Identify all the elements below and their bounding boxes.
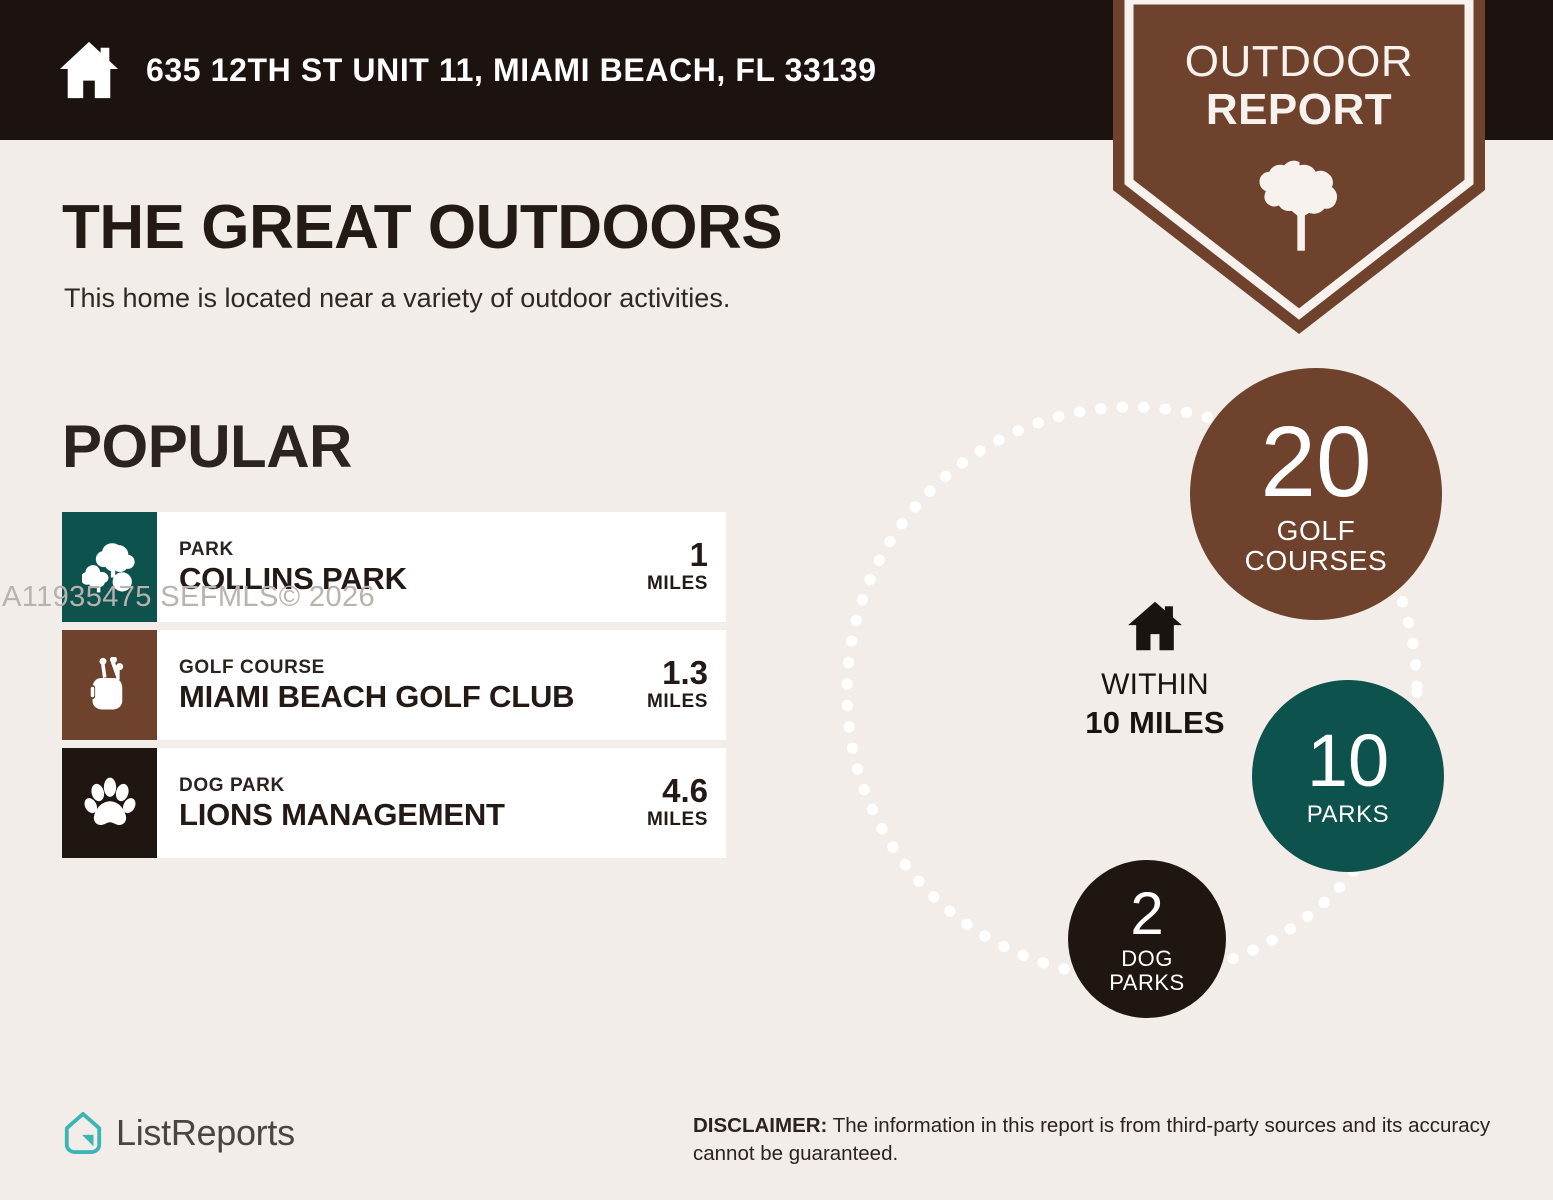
- outdoor-report-badge: OUTDOOR REPORT: [1113, 0, 1485, 334]
- listreports-house-icon: [62, 1110, 104, 1156]
- listreports-logo[interactable]: ListReports: [62, 1110, 295, 1156]
- stat-circle-golf-courses: 20 GOLF COURSES: [1190, 368, 1442, 620]
- poi-category: PARK: [179, 538, 407, 561]
- poi-name: LIONS MANAGEMENT: [179, 797, 505, 833]
- outdoor-report-page: 635 12TH ST UNIT 11, MIAMI BEACH, FL 331…: [0, 0, 1553, 1200]
- stat-value: 2: [1130, 884, 1163, 944]
- header-content: 635 12TH ST UNIT 11, MIAMI BEACH, FL 331…: [58, 0, 877, 140]
- page-title: THE GREAT OUTDOORS: [62, 192, 782, 263]
- badge-title-line1: OUTDOOR: [1185, 37, 1413, 86]
- stat-label-line1: DOG: [1121, 947, 1173, 970]
- badge-title-line2: REPORT: [1113, 86, 1485, 134]
- poi-distance-unit: MILES: [632, 690, 708, 714]
- list-item[interactable]: DOG PARK LIONS MANAGEMENT 4.6 MILES: [62, 748, 726, 858]
- poi-distance-value: 1.3: [632, 656, 708, 690]
- stat-label-line1: GOLF: [1277, 516, 1356, 546]
- list-item[interactable]: GOLF COURSE MIAMI BEACH GOLF CLUB 1.3 MI…: [62, 630, 726, 740]
- poi-category: DOG PARK: [179, 774, 505, 797]
- poi-distance-value: 4.6: [632, 774, 708, 808]
- badge-title: OUTDOOR REPORT: [1113, 38, 1485, 134]
- stats-diagram: 20 GOLF COURSES 10 PARKS 2 DOG PARKS WIT…: [820, 360, 1520, 1060]
- disclaimer: DISCLAIMER: The information in this repo…: [693, 1112, 1493, 1168]
- home-icon: [1050, 600, 1260, 652]
- within-radius-label: WITHIN 10 MILES: [1050, 600, 1260, 742]
- stat-value: 10: [1307, 724, 1389, 798]
- stat-label-line1: PARKS: [1307, 802, 1390, 827]
- disclaimer-label: DISCLAIMER:: [693, 1114, 827, 1137]
- listreports-brand-text: ListReports: [116, 1112, 295, 1154]
- popular-list: PARK COLLINS PARK 1 MILES: [62, 512, 726, 866]
- poi-distance-unit: MILES: [632, 808, 708, 832]
- poi-body: GOLF COURSE MIAMI BEACH GOLF CLUB 1.3 MI…: [157, 630, 726, 740]
- popular-heading: POPULAR: [62, 412, 352, 481]
- stat-label-line2: COURSES: [1245, 546, 1388, 576]
- stat-value: 20: [1260, 412, 1371, 512]
- stat-circle-dog-parks: 2 DOG PARKS: [1068, 860, 1226, 1018]
- poi-icon-tile: [62, 630, 157, 740]
- within-line1: WITHIN: [1050, 666, 1260, 704]
- poi-icon-tile: [62, 748, 157, 858]
- poi-distance: 1 MILES: [632, 538, 708, 596]
- poi-distance: 4.6 MILES: [632, 774, 708, 832]
- stat-circle-parks: 10 PARKS: [1252, 680, 1444, 872]
- within-line2: 10 MILES: [1050, 704, 1260, 742]
- poi-distance: 1.3 MILES: [632, 656, 708, 714]
- poi-category: GOLF COURSE: [179, 656, 574, 679]
- poi-distance-value: 1: [632, 538, 708, 572]
- home-icon: [58, 40, 120, 100]
- poi-body: DOG PARK LIONS MANAGEMENT 4.6 MILES: [157, 748, 726, 858]
- poi-name: MIAMI BEACH GOLF CLUB: [179, 679, 574, 715]
- mls-watermark: A11935475 SEFMLS© 2026: [2, 581, 375, 614]
- poi-distance-unit: MILES: [632, 572, 708, 596]
- poi-text: DOG PARK LIONS MANAGEMENT: [179, 774, 505, 833]
- poi-text: GOLF COURSE MIAMI BEACH GOLF CLUB: [179, 656, 574, 715]
- property-address: 635 12TH ST UNIT 11, MIAMI BEACH, FL 331…: [146, 52, 877, 89]
- page-subtitle: This home is located near a variety of o…: [64, 283, 730, 314]
- stat-label-line2: PARKS: [1109, 971, 1184, 994]
- golf-bag-icon: [82, 657, 138, 713]
- paw-print-icon: [82, 775, 138, 831]
